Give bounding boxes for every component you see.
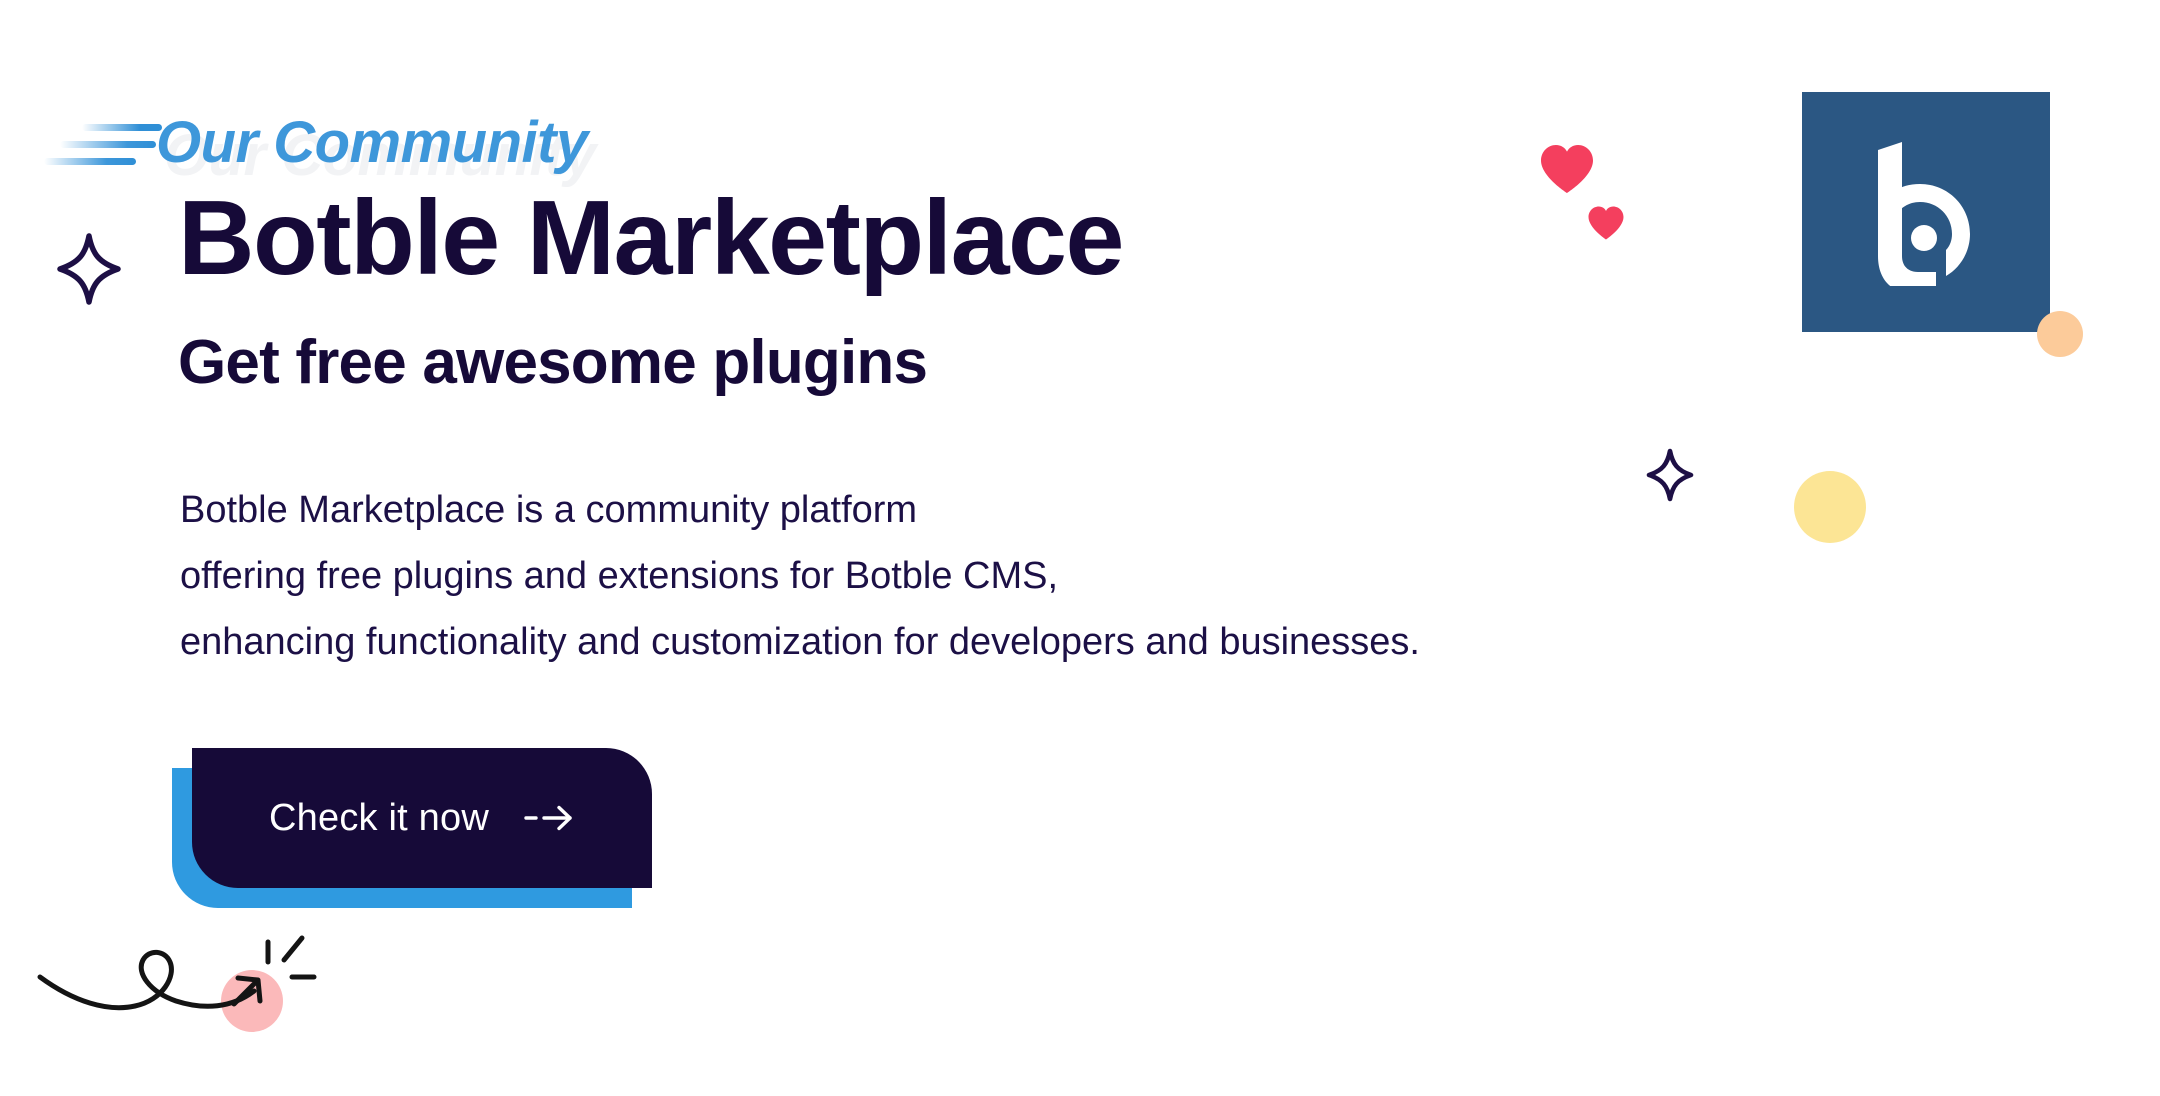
page-subtitle: Get free awesome plugins bbox=[178, 328, 927, 398]
eyebrow: Our Community Our Community bbox=[44, 100, 588, 186]
circle-decoration bbox=[2037, 311, 2083, 357]
circle-decoration bbox=[1794, 471, 1866, 543]
arrow-right-dashed-icon bbox=[523, 803, 575, 833]
eyebrow-text: Our Community Our Community bbox=[156, 110, 588, 176]
curved-arrow-doodle-icon bbox=[30, 920, 320, 1045]
speed-lines-decoration bbox=[44, 108, 162, 178]
heart-icon bbox=[1586, 204, 1626, 247]
hero-banner: Our Community Our Community Botble Marke… bbox=[0, 0, 2160, 1096]
cta-button-label: Check it now bbox=[269, 797, 489, 840]
four-point-star-icon bbox=[1646, 448, 1694, 507]
description-line: offering free plugins and extensions for… bbox=[180, 543, 1420, 609]
check-it-now-button[interactable]: Check it now bbox=[192, 748, 652, 888]
description-line: enhancing functionality and customizatio… bbox=[180, 609, 1420, 675]
description: Botble Marketplace is a community platfo… bbox=[180, 477, 1420, 675]
cta-container: Check it now bbox=[172, 748, 672, 910]
page-title: Botble Marketplace bbox=[178, 183, 1123, 293]
four-point-star-icon bbox=[56, 232, 122, 311]
eyebrow-label: Our Community bbox=[156, 110, 588, 175]
heart-icon bbox=[1538, 142, 1596, 201]
botble-logo bbox=[1802, 92, 2050, 332]
description-line: Botble Marketplace is a community platfo… bbox=[180, 477, 1420, 543]
